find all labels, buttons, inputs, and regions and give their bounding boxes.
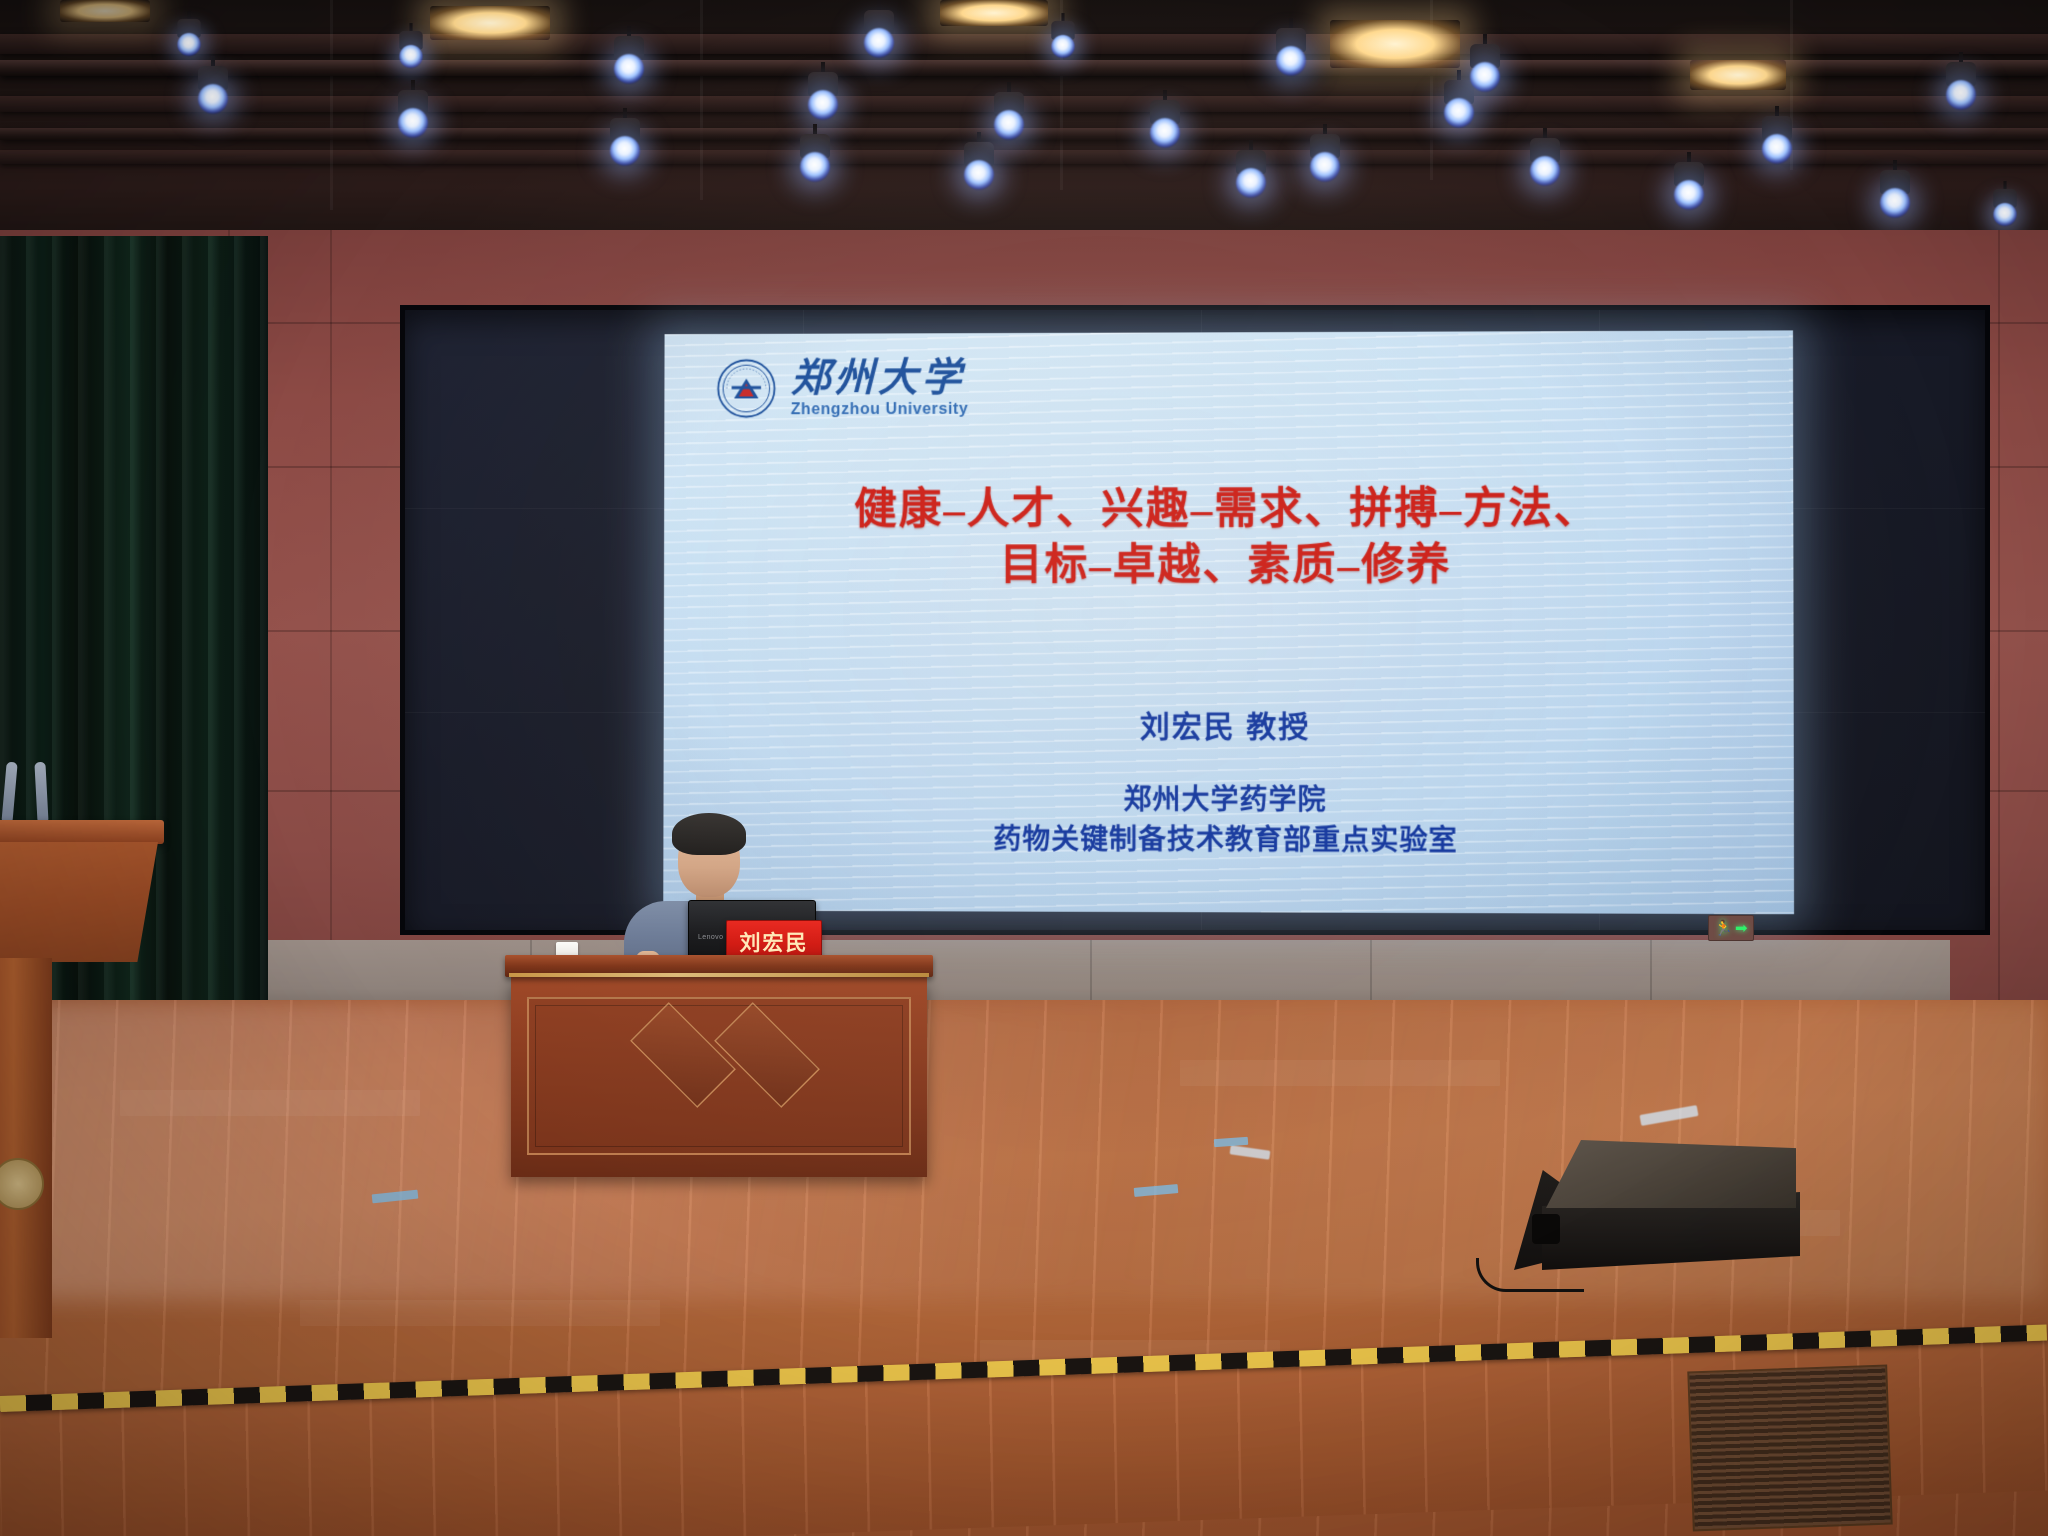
stage-lamp [1308,124,1342,170]
stage-lamp [398,23,425,59]
running-person-icon: 🏃 [1714,921,1733,936]
stage-lamp [196,56,230,102]
speaker-cable [1476,1258,1584,1292]
university-seal-icon [716,358,777,420]
emergency-exit-sign: 🏃 ➡ [1708,915,1754,941]
ceiling-panel-light [1690,60,1786,90]
slide-presenter-name: 刘宏民 教授 [664,701,1794,746]
stage-lamp [1760,106,1794,152]
stage-lamp [806,62,840,108]
stage-lamp [862,0,896,46]
ceiling-panel-light [60,0,150,22]
stage-lamp [962,132,996,178]
ceiling-panel-light [940,0,1048,26]
stage-lamp [396,80,430,126]
stage-lamp [1528,128,1562,174]
stage-lamp [176,11,203,47]
stage-lamp [1050,13,1077,49]
ceiling-panel-light [430,6,550,40]
slide-title: 健康–人才、兴趣–需求、拼搏–方法、 目标–卓越、素质–修养 [664,481,1793,594]
ceiling [0,0,2048,250]
conference-desk [505,955,933,1190]
auditorium-scene: 郑州大学 Zhengzhou University 健康–人才、兴趣–需求、拼搏… [0,0,2048,1536]
stage-lamp [992,82,1026,128]
stage-lamp [1148,90,1182,136]
stage-lamp [1234,140,1268,186]
university-logo: 郑州大学 Zhengzhou University [716,357,969,419]
slide-affiliation: 郑州大学药学院 药物关键制备技术教育部重点实验室 [663,779,1794,861]
stage-lamp [1468,34,1502,80]
lectern-podium [0,820,164,1340]
floor-vent-grille [1687,1365,1892,1532]
exit-arrow-icon: ➡ [1735,921,1748,936]
stage-lamp [1878,160,1912,206]
logo-chinese-name: 郑州大学 [791,358,969,398]
slide-title-line-1: 健康–人才、兴趣–需求、拼搏–方法、 [664,481,1793,538]
ceiling-panel-light [1330,20,1460,68]
affiliation-line-1: 郑州大学药学院 [663,779,1793,821]
stage-lamp [1944,52,1978,98]
logo-english-name: Zhengzhou University [791,402,969,418]
speaker-handle [1532,1214,1560,1244]
stage-lamp [1992,181,2019,217]
slide-title-line-2: 目标–卓越、素质–修养 [664,537,1793,594]
stage-lamp [798,124,832,170]
stage-lamp [612,26,646,72]
laptop-brand-label: Lenovo [698,934,723,941]
nameplate-text: 刘宏民 [740,927,809,957]
stage-lamp [608,108,642,154]
affiliation-line-2: 药物关键制备技术教育部重点实验室 [663,819,1794,862]
stage-lamp [1672,152,1706,198]
stage-lamp [1274,18,1308,64]
presentation-slide: 郑州大学 Zhengzhou University 健康–人才、兴趣–需求、拼搏… [663,330,1794,914]
